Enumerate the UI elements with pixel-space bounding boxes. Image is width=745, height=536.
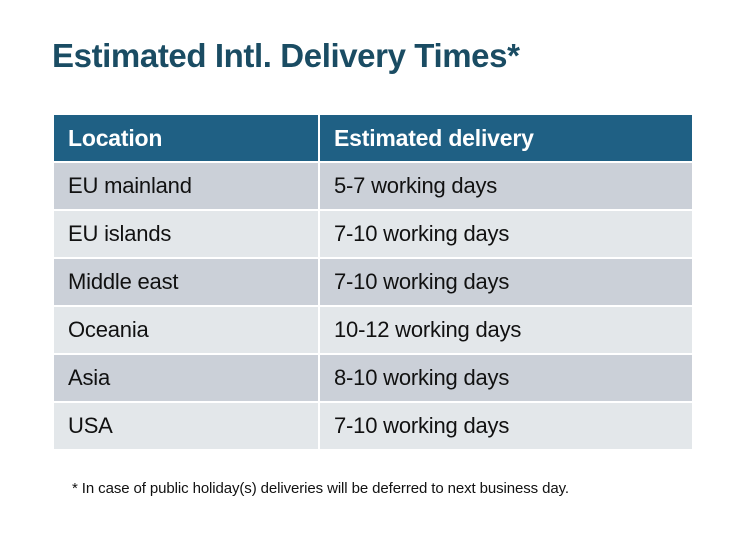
table-row: Middle east 7-10 working days — [54, 259, 692, 305]
cell-estimated-delivery: 7-10 working days — [320, 403, 692, 449]
table-row: EU islands 7-10 working days — [54, 211, 692, 257]
page-title: Estimated Intl. Delivery Times* — [52, 38, 520, 74]
table-row: USA 7-10 working days — [54, 403, 692, 449]
cell-estimated-delivery: 5-7 working days — [320, 163, 692, 209]
table-header: Location Estimated delivery — [54, 115, 692, 161]
cell-location: Asia — [54, 355, 318, 401]
table-row: EU mainland 5-7 working days — [54, 163, 692, 209]
cell-estimated-delivery: 7-10 working days — [320, 211, 692, 257]
cell-location: EU mainland — [54, 163, 318, 209]
cell-location: USA — [54, 403, 318, 449]
column-header-estimated-delivery: Estimated delivery — [320, 115, 692, 161]
delivery-times-card: Estimated Intl. Delivery Times* Location… — [0, 0, 745, 536]
column-header-location: Location — [54, 115, 318, 161]
cell-estimated-delivery: 8-10 working days — [320, 355, 692, 401]
cell-location: Oceania — [54, 307, 318, 353]
cell-location: EU islands — [54, 211, 318, 257]
estimated-delivery-times-table: Location Estimated delivery EU mainland … — [52, 113, 694, 451]
footnote: * In case of public holiday(s) deliverie… — [72, 480, 569, 497]
cell-location: Middle east — [54, 259, 318, 305]
cell-estimated-delivery: 7-10 working days — [320, 259, 692, 305]
table-body: EU mainland 5-7 working days EU islands … — [54, 163, 692, 449]
table-header-row: Location Estimated delivery — [54, 115, 692, 161]
table-row: Oceania 10-12 working days — [54, 307, 692, 353]
cell-estimated-delivery: 10-12 working days — [320, 307, 692, 353]
table-row: Asia 8-10 working days — [54, 355, 692, 401]
